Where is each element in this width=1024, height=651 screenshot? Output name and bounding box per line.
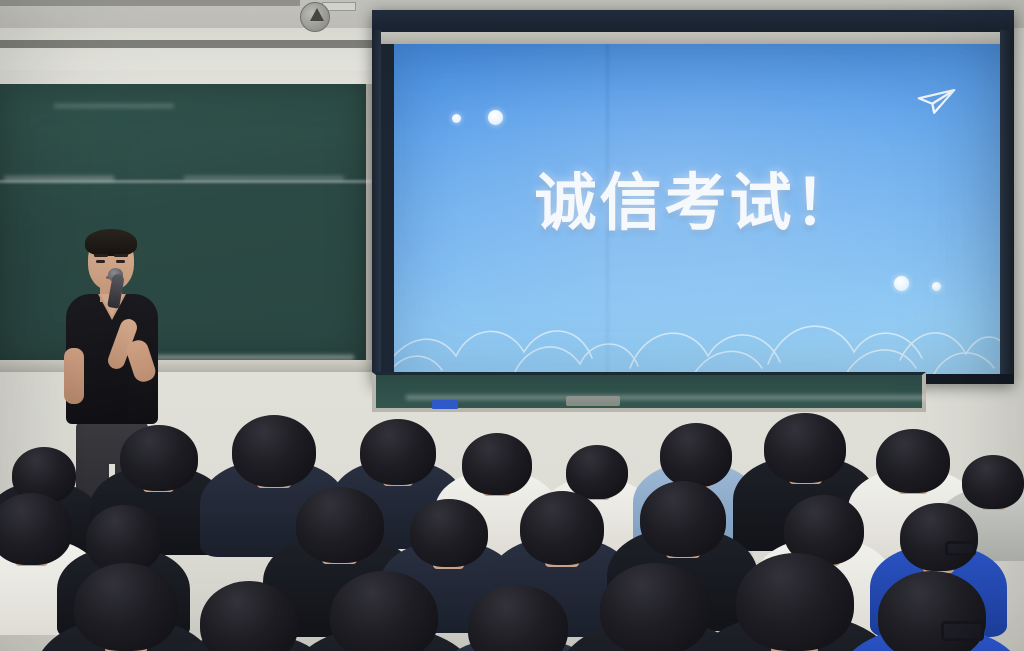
student-head — [462, 433, 532, 495]
slide-dot-low-small — [932, 282, 941, 291]
student-head — [736, 553, 854, 651]
student-head — [232, 415, 316, 487]
student-head — [566, 445, 628, 499]
screen-frame-top — [372, 10, 1014, 34]
presenter-eye — [96, 260, 105, 263]
student-head — [74, 563, 178, 651]
student-head — [296, 487, 384, 563]
student-head — [660, 423, 732, 487]
classroom-scene: 诚信考试！ — [0, 0, 1024, 651]
presenter-brow — [94, 254, 108, 257]
eyeglasses-icon — [941, 621, 984, 641]
slide-dot-top-small — [452, 114, 461, 123]
projector-mount — [296, 0, 358, 34]
cloud-decoration — [394, 282, 1000, 374]
slide-dot-low-large — [894, 276, 909, 291]
chalk-smudge — [54, 104, 174, 108]
student-head — [600, 563, 710, 651]
slide-title: 诚信考试！ — [394, 152, 1000, 242]
student-head — [0, 493, 72, 565]
chalk-smudge — [184, 176, 344, 180]
slide-dot-top-large — [488, 110, 503, 125]
student-head — [520, 491, 604, 565]
student-head — [120, 425, 198, 491]
ceiling-rail-far — [0, 0, 300, 6]
presenter-hair — [85, 229, 137, 256]
mount-cone-icon — [310, 8, 324, 21]
screen-frame-right — [1000, 30, 1014, 384]
wall-rail — [0, 40, 372, 48]
student-head — [962, 455, 1024, 509]
student-head — [640, 481, 726, 557]
projection-screen: 诚信考试！ — [372, 10, 1014, 384]
paper-plane-icon — [916, 86, 956, 116]
wall-upper-band — [0, 28, 372, 70]
student-head — [764, 413, 846, 483]
eyeglasses-icon — [945, 541, 976, 556]
presenter-brow — [114, 254, 128, 257]
student-head — [900, 503, 978, 571]
screen-bevel — [378, 32, 1008, 44]
presenter-eye — [116, 260, 125, 263]
chalk-smudge — [4, 176, 114, 181]
student-head — [410, 499, 488, 567]
student-head — [876, 429, 950, 493]
student-head — [360, 419, 436, 485]
screen-frame-left — [372, 30, 381, 384]
student-head — [330, 571, 438, 651]
audience — [0, 395, 1024, 651]
projected-slide: 诚信考试！ — [394, 44, 1000, 374]
